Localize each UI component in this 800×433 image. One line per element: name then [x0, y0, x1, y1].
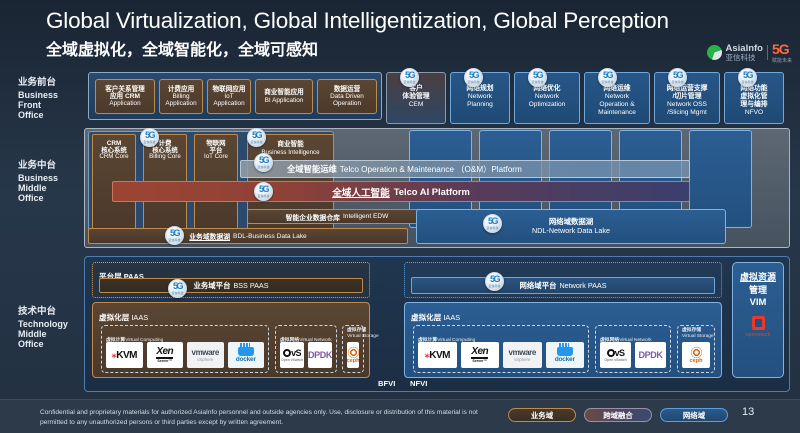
5g-badge-sub: 亚信科技 — [488, 285, 500, 288]
logo-divider — [767, 45, 768, 60]
side-label-en-2: Middle — [18, 329, 88, 339]
vmware-vsphere-logo: vmware vSphere — [503, 342, 542, 368]
network-paas-zh: 网络域平台 — [520, 280, 557, 291]
5g-badge-sub: 亚信科技 — [467, 81, 479, 84]
app-card-en: Application — [109, 100, 140, 107]
card-en-2: /Slicing Mgmt — [667, 109, 707, 117]
5g-badge-icon: 5G亚信科技 — [483, 214, 502, 233]
logo-row: ceph — [682, 342, 710, 368]
5g-badge-text: 5G — [673, 71, 682, 80]
openstack-logo-text: openstack — [746, 332, 771, 338]
oam-zh: 全域智能运维 — [287, 163, 337, 175]
5g-badge-icon: 5G亚信科技 — [738, 68, 757, 87]
5g-badge-icon: 5G亚信科技 — [598, 68, 617, 87]
app-card-crm[interactable]: 客户关系管理 应用 CRM Application — [95, 79, 155, 114]
card-en-1: CEM — [409, 101, 424, 109]
vsphere-logo-subtext: vSphere — [514, 357, 530, 362]
edw-zh: 智能企业数据仓库 — [286, 212, 340, 222]
bdl-en: BDL-Business Data Lake — [233, 233, 307, 240]
network-paas-en: Network PAAS — [559, 281, 606, 290]
5g-badge-sub: 亚信科技 — [257, 195, 269, 198]
side-label-en-1: Business — [18, 173, 88, 183]
ovs-logo-subtext: Open vSwitch — [281, 358, 303, 362]
card-en-3: Maintenance — [598, 109, 636, 117]
whale-icon — [557, 347, 573, 356]
5g-badge-icon: 5G亚信科技 — [400, 68, 419, 87]
card-zh-2: /切片管理 — [672, 93, 701, 101]
iaas-en: IAAS — [131, 313, 148, 322]
dpdk-logo-text: DPDK — [308, 350, 332, 360]
app-card-zh-1: 物联网应用 — [213, 86, 246, 93]
legend-chip-cross-domain[interactable]: 跨域融合 — [584, 408, 652, 422]
core-system-caption: CRM 核心系统 CRM Core — [93, 140, 135, 161]
network-card-oss-slicing[interactable]: 网络运营支撑 /切片管理 Network OSS /Slicing Mgmt — [654, 72, 720, 124]
side-label-zh: 技术中台 — [18, 307, 88, 318]
asiainfo-logo: AsiaInfo 亚信科技 5G 赋能未来 — [707, 41, 793, 64]
dpdk-logo: DPDK — [308, 342, 332, 368]
app-card-billing[interactable]: 计费应用 Billing Application — [159, 79, 203, 114]
app-card-zh-1: 数据运营 — [334, 86, 360, 93]
card-zh-2: 虚拟化管 — [740, 93, 767, 101]
group-en: Virtual Storage — [347, 334, 379, 340]
5g-badge-icon: 5G亚信科技 — [668, 68, 687, 87]
docker-logo-text: docker — [555, 356, 575, 363]
ceph-icon — [691, 347, 702, 358]
ceph-icon — [348, 347, 359, 358]
group-caption: 虚拟存储 Virtual Storage — [347, 328, 379, 340]
side-label-en-3: Office — [18, 193, 88, 203]
group-en: Virtual Storage — [682, 334, 714, 340]
logo-row: ⁎KVM Xen Server™ vmware vSphere docker — [106, 342, 264, 368]
paas-layer-network: 网络域平台 Network PAAS — [404, 262, 722, 298]
dpdk-logo-text: DPDK — [639, 350, 663, 360]
5g-badge-icon: 5G亚信科技 — [168, 279, 187, 298]
ceph-logo: ceph — [682, 342, 710, 368]
kvm-logo: ⁎KVM — [106, 342, 143, 368]
group-virtual-storage-business: 虚拟存储 Virtual Storage ceph — [342, 325, 364, 373]
ovs-logo: vS Open vSwitch — [600, 342, 631, 368]
network-card-operation-maintenance[interactable]: 网络运维 Network Operation & Maintenance — [584, 72, 650, 124]
nfvi-label: NFVI — [410, 379, 427, 388]
xen-logo-text: Xen — [156, 347, 173, 359]
vim-zh-1: 虚拟资源 — [740, 270, 776, 283]
bss-paas-zh: 业务域平台 — [194, 280, 231, 291]
app-card-zh-1: 计费应用 — [168, 86, 194, 93]
logo-name-zh: 亚信科技 — [726, 54, 763, 62]
5g-badge-text: 5G — [603, 71, 612, 80]
confidential-notice: Confidential and proprietary materials f… — [40, 408, 500, 427]
kvm-logo-text: ⁎KVM — [425, 350, 450, 361]
ceph-logo: ceph — [347, 342, 359, 368]
slide-header: Global Virtualization, Global Intelligen… — [0, 0, 800, 62]
ovs-logo: vS Open vSwitch — [280, 342, 304, 368]
5g-badge-sub: 亚信科技 — [143, 141, 155, 144]
side-label-technology-middle-office: 技术中台 Technology Middle Office — [18, 307, 88, 349]
5g-badge-icon: 5G亚信科技 — [254, 182, 273, 201]
intelligent-edw-box[interactable]: 智能企业数据仓库 Intelligent EDW — [247, 209, 427, 224]
side-label-business-middle-office: 业务中台 Business Middle Office — [18, 161, 88, 203]
app-card-zh-2: 应用 CRM — [110, 93, 140, 100]
side-label-en-3: Office — [18, 110, 88, 120]
5g-badge-sub: 亚信科技 — [601, 81, 613, 84]
card-en-1: NFVO — [745, 109, 763, 117]
network-paas-box[interactable]: 网络域平台 Network PAAS — [411, 277, 715, 294]
5g-badge-text: 5G — [170, 229, 179, 238]
vim-zh-2: 管理 — [749, 283, 767, 296]
logo-row: vS Open vSwitch DPDK — [600, 342, 666, 368]
asiainfo-logo-icon — [707, 45, 722, 60]
5g-badge-sub: 亚信科技 — [257, 166, 269, 169]
edw-en: Intelligent EDW — [343, 213, 388, 220]
side-label-en-1: Technology — [18, 319, 88, 329]
side-label-zh: 业务前台 — [18, 78, 88, 89]
vim-en: VIM — [750, 296, 767, 307]
5g-badge-text: 5G — [173, 282, 182, 291]
ceph-logo-text: ceph — [689, 358, 702, 364]
app-card-en-2: Application — [213, 100, 244, 107]
group-virtual-computing-network: 虚拟计算Virtual Computing ⁎KVM Xen Server™ v… — [413, 325, 589, 373]
ndl-en: NDL-Network Data Lake — [532, 227, 610, 236]
vmware-vsphere-logo: vmware vSphere — [187, 342, 224, 368]
xen-logo-text: Xen — [471, 347, 488, 359]
dpdk-logo: DPDK — [635, 342, 666, 368]
docker-logo-text: docker — [236, 356, 256, 363]
bdl-zh: 业务域数据湖 — [189, 231, 230, 241]
app-card-en-1: Billing — [172, 93, 189, 100]
5g-badge-sub: 亚信科技 — [168, 239, 180, 242]
side-label-zh: 业务中台 — [18, 161, 88, 172]
bss-paas-en: BSS PAAS — [233, 281, 268, 290]
side-label-en-2: Middle — [18, 183, 88, 193]
side-label-en-3: Office — [18, 339, 88, 349]
oam-en: Telco Operation & Maintenance （O&M）Platf… — [340, 163, 522, 175]
5g-logo: 5G 赋能未来 — [772, 41, 792, 64]
telco-oam-platform-bar[interactable]: 全域智能运维 Telco Operation & Maintenance （O&… — [240, 160, 690, 178]
5g-badge-text: 5G — [259, 185, 268, 194]
group-virtual-computing-business: 虚拟计算Virtual Computing ⁎KVM Xen Server™ v… — [101, 325, 269, 373]
card-zh-3: 理与编排 — [740, 101, 767, 109]
5g-badge-text: 5G — [743, 71, 752, 80]
card-en-1: Network — [605, 93, 629, 101]
app-card-en-1: BI Application — [265, 97, 304, 104]
5g-badge-sub: 亚信科技 — [171, 292, 183, 295]
kvm-logo-text: ⁎KVM — [112, 350, 137, 361]
page-subtitle: 全域虚拟化，全域智能化，全域可感知 — [46, 36, 318, 60]
side-label-business-front-office: 业务前台 Business Front Office — [18, 78, 88, 120]
app-card-data-operation[interactable]: 数据运营 Data Driven Operation — [317, 79, 377, 114]
ovs-logo-subtext: Open vSwitch — [604, 358, 626, 362]
5g-badge-sub: 亚信科技 — [486, 227, 498, 230]
openstack-icon — [752, 316, 765, 330]
business-front-office-panel: 客户关系管理 应用 CRM Application 计费应用 Billing A… — [88, 72, 382, 120]
logo-row: ceph — [347, 342, 359, 368]
5g-badge-sub: 亚信科技 — [741, 81, 753, 84]
network-card-optimization[interactable]: 网络优化 Network Optimization — [514, 72, 580, 124]
5g-badge-sub: 亚信科技 — [531, 81, 543, 84]
page-number: 13 — [742, 406, 754, 418]
card-en-2: Operation & — [599, 101, 634, 109]
logo-row: vS Open vSwitch DPDK — [280, 342, 332, 368]
kvm-logo: ⁎KVM — [418, 342, 457, 368]
ceph-logo-text: ceph — [347, 358, 359, 364]
whale-icon — [238, 347, 254, 356]
5g-badge-sub: 亚信科技 — [403, 81, 415, 84]
card-en-2: Optimization — [529, 101, 566, 109]
ovs-logo-text: vS — [283, 348, 301, 358]
ai-en: Telco AI Platform — [394, 186, 470, 197]
core-en: Billing Core — [144, 154, 186, 161]
xen-logo-subtext: Server™ — [472, 359, 487, 363]
telco-ai-platform-bar[interactable]: 全域人工智能 Telco AI Platform — [112, 181, 690, 202]
vmware-logo-text: vmware — [192, 348, 219, 357]
business-data-lake-box[interactable]: 业务域数据湖 BDL-Business Data Lake — [88, 228, 408, 244]
core-en: CRM Core — [93, 154, 135, 161]
confidential-line-1: Confidential and proprietary materials f… — [40, 409, 382, 416]
5g-badge-icon: 5G亚信科技 — [254, 153, 273, 172]
5g-badge-icon: 5G亚信科技 — [485, 272, 504, 291]
paas-layer-business: 平台层PAAS 业务域平台 BSS PAAS — [92, 262, 370, 298]
card-zh-2: 体验管理 — [402, 93, 429, 101]
iaas-en: IAAS — [443, 313, 460, 322]
iaas-layer-business: 虚拟化层IAAS 虚拟计算Virtual Computing ⁎KVM Xen … — [92, 302, 370, 378]
bss-paas-box[interactable]: 业务域平台 BSS PAAS — [99, 278, 363, 293]
legend-chip-business-domain[interactable]: 业务域 — [508, 408, 576, 422]
group-virtual-network-business: 虚拟网络Virtual Network vS Open vSwitch DPDK — [275, 325, 337, 373]
group-caption: 虚拟存储 Virtual Storage — [682, 328, 714, 340]
group-virtual-storage-network: 虚拟存储 Virtual Storage ceph — [677, 325, 715, 373]
app-card-zh-1: 客户关系管理 — [105, 86, 145, 93]
5g-badge-text: 5G — [259, 156, 268, 165]
legend-chip-network-domain[interactable]: 网络域 — [660, 408, 728, 422]
5g-badge-text: 5G — [490, 275, 499, 284]
app-card-iot[interactable]: 物联网应用 IoT Application — [207, 79, 251, 114]
card-en-1: Network — [535, 93, 559, 101]
5g-badge-text: 5G — [145, 131, 154, 140]
5g-badge-icon: 5G亚信科技 — [140, 128, 159, 147]
iaas-caption-network: 虚拟化层IAAS — [411, 307, 460, 325]
page-title: Global Virtualization, Global Intelligen… — [46, 8, 669, 34]
core-system-caption: 物联网 平台 IoT Core — [195, 140, 237, 161]
xenserver-logo: Xen Server™ — [461, 342, 500, 368]
side-label-en-1: Business — [18, 90, 88, 100]
5g-badge-text: 5G — [533, 71, 542, 80]
vsphere-logo-subtext: vSphere — [197, 357, 213, 362]
5g-badge-icon: 5G亚信科技 — [464, 68, 483, 87]
slide-footer: Confidential and proprietary materials f… — [0, 399, 800, 433]
5g-badge-text: 5G — [405, 71, 414, 80]
5g-badge-text: 5G — [252, 131, 261, 140]
side-label-en-2: Front — [18, 100, 88, 110]
logo-name-en: AsiaInfo — [726, 44, 763, 54]
5g-logo-text: 5G — [772, 41, 792, 57]
vim-panel[interactable]: 虚拟资源 管理 VIM openstack — [732, 262, 784, 378]
xenserver-logo: Xen Server™ — [147, 342, 184, 368]
5g-badge-sub: 亚信科技 — [671, 81, 683, 84]
xen-logo-subtext: Server™ — [157, 359, 172, 363]
iaas-caption-business: 虚拟化层IAAS — [99, 307, 148, 325]
5g-logo-subtext: 赋能未来 — [772, 57, 792, 64]
5g-badge-icon: 5G亚信科技 — [165, 226, 184, 245]
iaas-zh: 虚拟化层 — [99, 313, 129, 322]
app-card-en-1: Data Driven Operation — [318, 93, 376, 107]
ovs-logo-text: vS — [607, 348, 625, 358]
card-en-1: Network OSS — [667, 101, 707, 109]
5g-badge-text: 5G — [469, 71, 478, 80]
5g-badge-icon: 5G亚信科技 — [528, 68, 547, 87]
group-virtual-network-network: 虚拟网络Virtual Network vS Open vSwitch DPDK — [595, 325, 671, 373]
app-card-en-1: IoT — [224, 93, 233, 100]
iaas-layer-network: 虚拟化层IAAS 虚拟计算Virtual Computing ⁎KVM Xen … — [404, 302, 722, 378]
bfvi-label: BFVI — [378, 379, 395, 388]
docker-logo: docker — [228, 342, 265, 368]
card-en-2: Planning — [467, 101, 493, 109]
iaas-zh: 虚拟化层 — [411, 313, 441, 322]
5g-badge-icon: 5G亚信科技 — [247, 128, 266, 147]
app-card-en-2: Application — [165, 100, 196, 107]
app-card-zh-1: 商业智能应用 — [264, 89, 304, 96]
5g-badge-text: 5G — [488, 217, 497, 226]
core-en: IoT Core — [195, 154, 237, 161]
docker-logo: docker — [546, 342, 585, 368]
network-front-office-panel: 客户 体验管理 CEM 5G亚信科技 网络规划 Network Planning… — [386, 68, 788, 124]
network-data-lake-box[interactable]: 网络域数据湖 NDL-Network Data Lake — [416, 209, 726, 244]
app-card-bi[interactable]: 商业智能应用 BI Application — [255, 79, 313, 114]
card-en-1: Network — [468, 93, 492, 101]
vmware-logo-text: vmware — [509, 348, 536, 357]
5g-badge-sub: 亚信科技 — [250, 141, 262, 144]
asiainfo-logo-text: AsiaInfo 亚信科技 — [726, 44, 763, 62]
logo-row: ⁎KVM Xen Server™ vmware vSphere docker — [418, 342, 584, 368]
ai-zh: 全域人工智能 — [332, 185, 390, 199]
